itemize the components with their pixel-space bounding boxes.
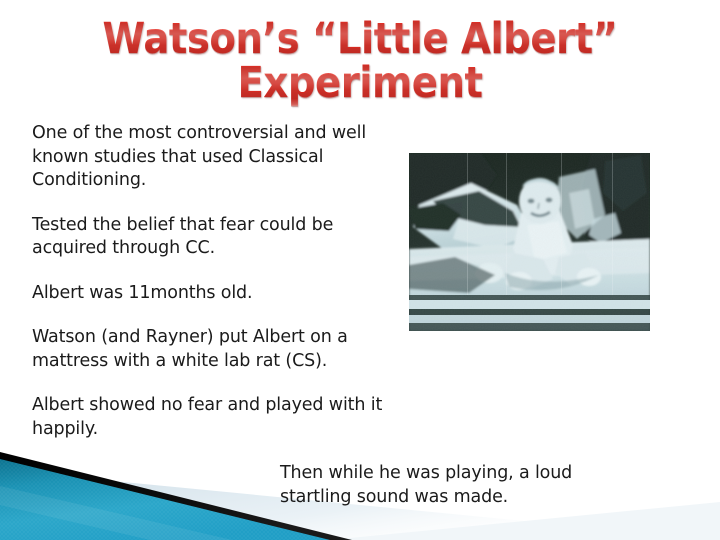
title-line-1: Watson’s “Little Albert” xyxy=(36,17,684,61)
body-paragraph: Watson (and Rayner) put Albert on a matt… xyxy=(32,326,404,373)
body-paragraph: Albert showed no fear and played with it… xyxy=(32,394,404,441)
page-title: Watson’s “Little Albert” Experiment xyxy=(0,17,720,106)
little-albert-photo xyxy=(409,153,650,331)
slide: Watson’s “Little Albert” Experiment One … xyxy=(0,0,720,540)
body-text-column: One of the most controversial and well k… xyxy=(32,122,404,441)
lower-paragraph: Then while he was playing, a loud startl… xyxy=(280,462,620,509)
body-paragraph: One of the most controversial and well k… xyxy=(32,122,404,193)
teal-wedge-highlight xyxy=(0,486,232,540)
title-line-2: Experiment xyxy=(36,61,684,105)
body-paragraph: Albert was 11months old. xyxy=(32,282,404,306)
body-paragraph: Tested the belief that fear could be acq… xyxy=(32,214,404,261)
